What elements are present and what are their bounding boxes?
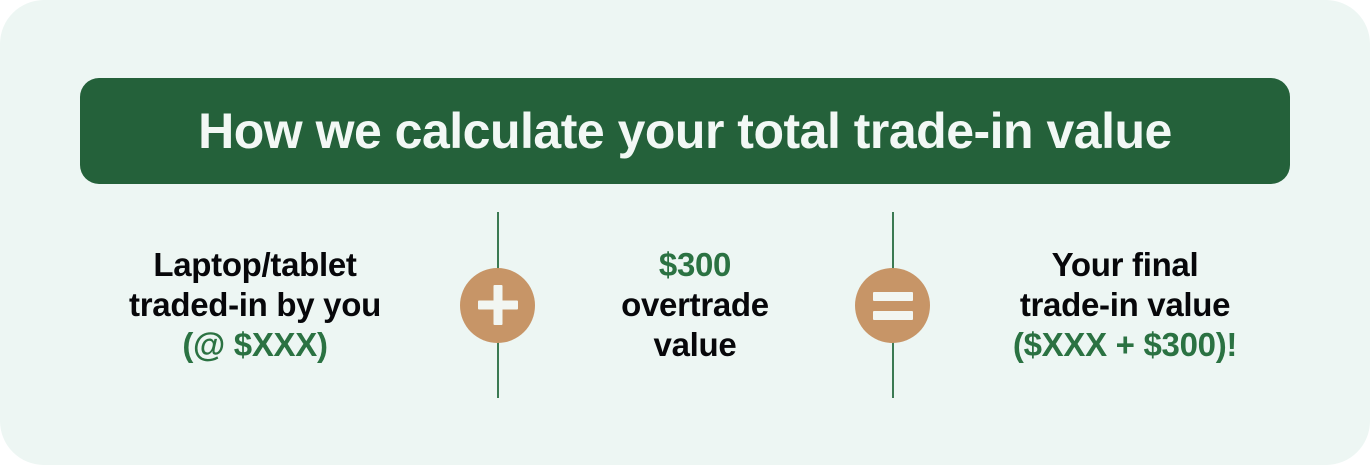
equals-icon — [855, 268, 930, 343]
term2-line3: value — [545, 325, 845, 365]
operator-plus — [450, 212, 545, 398]
term-traded-in-device: Laptop/tablet traded-in by you (@ $XXX) — [60, 245, 450, 366]
term-final-value: Your final trade-in value ($XXX + $300)! — [940, 245, 1310, 366]
term-overtrade-bonus: $300 overtrade value — [545, 245, 845, 366]
term3-line1: Your final — [940, 245, 1310, 285]
trade-in-calculation-graphic: How we calculate your total trade-in val… — [0, 0, 1370, 465]
term2-line2: overtrade — [545, 285, 845, 325]
term2-line1-amount: $300 — [545, 245, 845, 285]
term1-line2: traded-in by you — [60, 285, 450, 325]
operator-equals — [845, 212, 940, 398]
plus-icon — [460, 268, 535, 343]
header-banner: How we calculate your total trade-in val… — [80, 78, 1290, 184]
term1-line1: Laptop/tablet — [60, 245, 450, 285]
term1-line3-amount: (@ $XXX) — [60, 325, 450, 365]
term3-line2: trade-in value — [940, 285, 1310, 325]
term3-line3-amount: ($XXX + $300)! — [940, 325, 1310, 365]
info-card: How we calculate your total trade-in val… — [0, 0, 1370, 465]
formula-row: Laptop/tablet traded-in by you (@ $XXX) … — [0, 205, 1370, 405]
page-title: How we calculate your total trade-in val… — [198, 106, 1172, 156]
